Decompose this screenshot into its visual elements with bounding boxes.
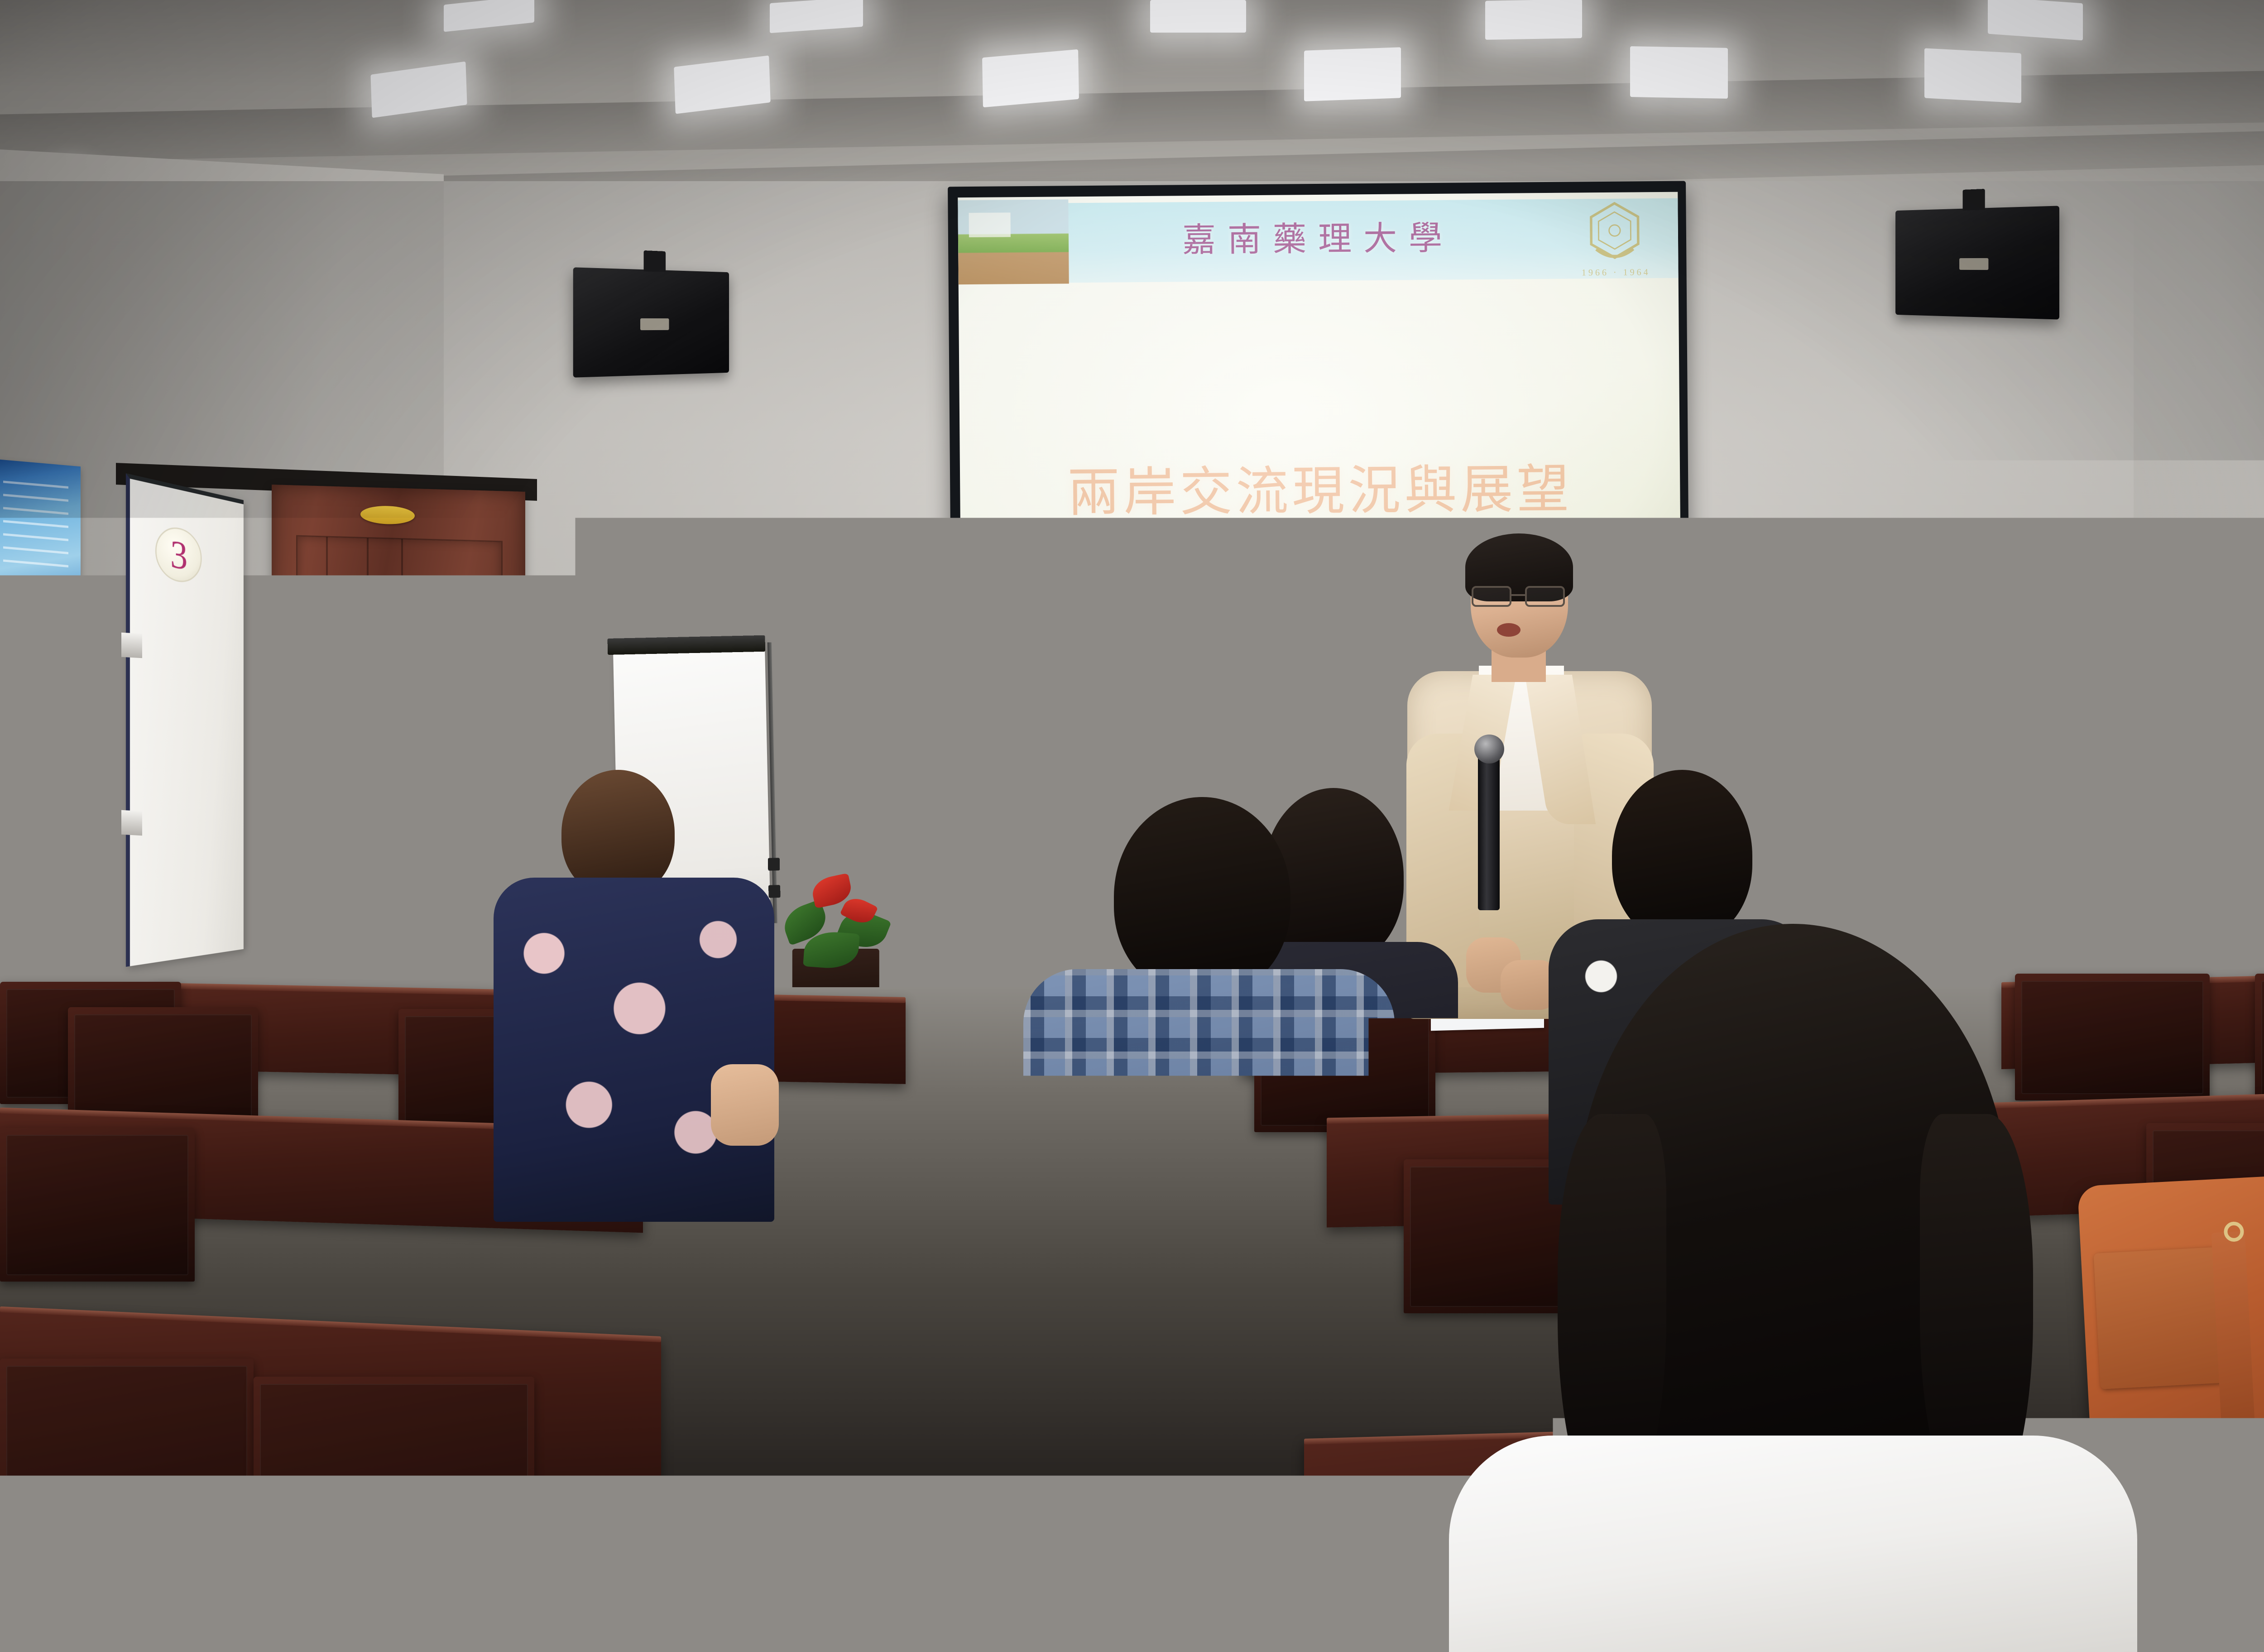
gooseneck-microphone-capsule bbox=[1982, 648, 2003, 668]
microphone-capsule-icon bbox=[1474, 735, 1504, 764]
university-logo-icon bbox=[1583, 199, 1646, 268]
wall-printed-notice bbox=[4, 618, 63, 674]
door-hinge bbox=[121, 633, 142, 658]
slide-photo-thumbnail bbox=[976, 592, 1103, 696]
slide-photo-thumbnail bbox=[1252, 590, 1379, 693]
open-door-panel[interactable]: 3 bbox=[126, 473, 244, 967]
chair[interactable] bbox=[254, 1377, 534, 1652]
door-safety-sign bbox=[359, 595, 422, 636]
ceiling-light-panel bbox=[1630, 46, 1728, 99]
photo-scene: 3 嘉南藥理大學 1966 · 19 bbox=[0, 0, 2264, 1652]
door-handle[interactable] bbox=[486, 748, 528, 758]
glasses-icon bbox=[1472, 586, 1568, 607]
wall-notice-poster bbox=[0, 459, 81, 598]
wall-control-panel[interactable] bbox=[2115, 705, 2168, 792]
handbag-buckle bbox=[666, 1248, 686, 1273]
chair[interactable] bbox=[2255, 974, 2264, 1105]
forearm bbox=[1141, 1481, 1277, 1599]
door-plaque bbox=[360, 505, 415, 525]
chair[interactable] bbox=[0, 1359, 254, 1652]
head bbox=[1114, 797, 1290, 996]
wall-loudspeaker-left bbox=[573, 267, 729, 377]
phone-screen bbox=[1125, 1340, 1221, 1469]
ceiling-light-panel bbox=[982, 49, 1079, 107]
slide-photo-thumbnail bbox=[1113, 591, 1242, 694]
slide-date-stamp: 2015-5-13 bbox=[985, 706, 1047, 721]
anthurium-plant bbox=[777, 856, 895, 1005]
slide-university-name: 嘉南藥理大學 bbox=[958, 209, 1679, 263]
slide-logo-year: 1966 · 1964 bbox=[1582, 267, 1650, 278]
chair[interactable] bbox=[0, 1128, 195, 1282]
handheld-microphone bbox=[1478, 752, 1500, 910]
zipper bbox=[869, 1576, 876, 1652]
handbag-buckle bbox=[1064, 1293, 1085, 1318]
ceiling-light-panel bbox=[1150, 0, 1246, 33]
slide-main-title: 兩岸交流現況與展望 bbox=[960, 446, 1680, 527]
ceiling-light-panel bbox=[1988, 0, 2083, 40]
wall-loudspeaker-right bbox=[1895, 206, 2059, 319]
ceiling-light-panel bbox=[1485, 0, 1582, 40]
ceiling-light-panel bbox=[1924, 48, 2021, 103]
audience-woman-longhair-foreground bbox=[1440, 924, 2146, 1652]
door-hinge bbox=[121, 810, 142, 836]
ceiling-light-panel bbox=[1304, 47, 1401, 101]
head bbox=[1612, 770, 1752, 942]
torso-white-top bbox=[1449, 1436, 2137, 1652]
right-wall bbox=[2134, 172, 2264, 1070]
room-number-badge: 3 bbox=[155, 523, 202, 586]
pink-bow-hair-clip bbox=[854, 1333, 956, 1381]
